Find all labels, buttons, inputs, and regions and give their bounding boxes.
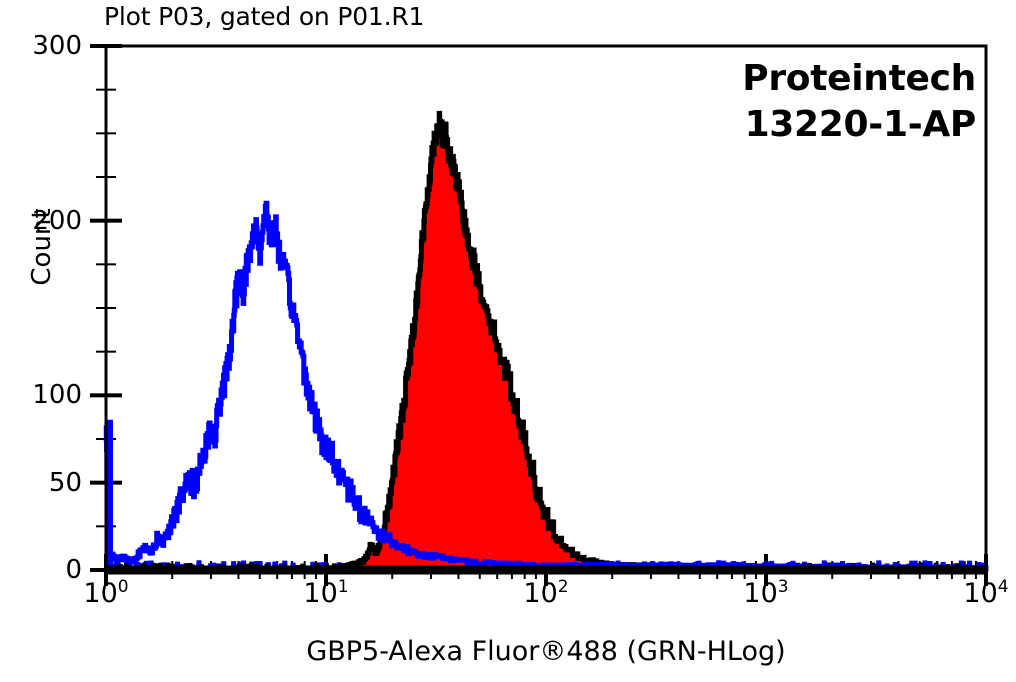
flow-cytometry-histogram-figure: Plot P03, gated on P01.R1 Proteintech 13… [0,0,1016,682]
plot-canvas [0,0,1016,682]
stained-histogram-fill [326,113,986,570]
